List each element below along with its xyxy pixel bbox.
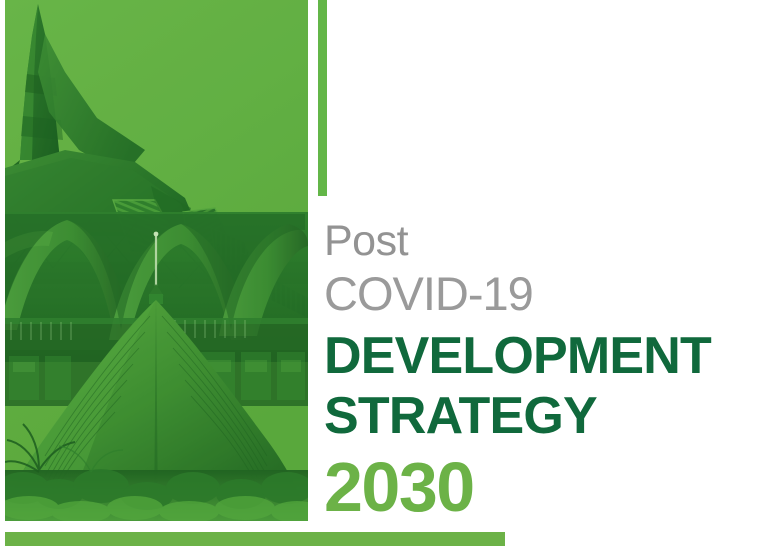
title-year: 2030 xyxy=(324,448,744,526)
title-line-post: Post xyxy=(324,216,744,266)
cover-title-block: Post COVID-19 DEVELOPMENT STRATEGY 2030 xyxy=(324,216,744,526)
title-line-covid: COVID-19 xyxy=(324,266,744,322)
bottom-accent-bar xyxy=(5,532,505,546)
title-line-development: DEVELOPMENT xyxy=(324,326,744,386)
cover-photograph xyxy=(5,0,308,521)
report-cover: Post COVID-19 DEVELOPMENT STRATEGY 2030 xyxy=(0,0,761,549)
vertical-accent-bar xyxy=(318,0,327,196)
title-line-strategy: STRATEGY xyxy=(324,386,744,446)
